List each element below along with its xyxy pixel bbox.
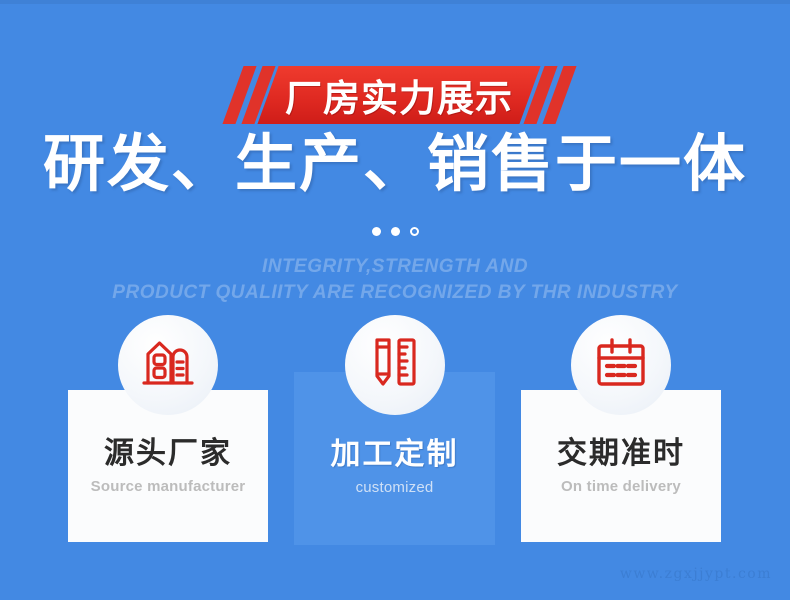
dot-3 bbox=[410, 227, 419, 236]
page-headline: 研发、生产、销售于一体 bbox=[0, 131, 790, 196]
feature-card-on-time-delivery[interactable]: 交期准时 On time delivery bbox=[521, 375, 721, 542]
card-title-en: Source manufacturer bbox=[68, 478, 268, 495]
dot-2 bbox=[391, 227, 400, 236]
ribbon-title: 厂房实力展示 bbox=[268, 66, 530, 124]
watermark-url: www.zgxjjypt.com bbox=[620, 566, 772, 582]
card-title-cn: 加工定制 bbox=[294, 438, 495, 473]
dot-1 bbox=[372, 227, 381, 236]
card-icon-circle bbox=[571, 315, 671, 415]
subtitle-english: INTEGRITY,STRENGTH AND PRODUCT QUALIITY … bbox=[0, 254, 790, 305]
pencil-ruler-icon bbox=[371, 336, 419, 395]
top-accent-strip bbox=[0, 0, 790, 4]
feature-card-source-manufacturer[interactable]: 源头厂家 Source manufacturer bbox=[68, 375, 268, 542]
feature-card-list: 源头厂家 Source manufacturer bbox=[0, 315, 790, 535]
factory-icon bbox=[140, 337, 196, 394]
card-labels: 源头厂家 Source manufacturer bbox=[68, 437, 268, 495]
ribbon-banner: 厂房实力展示 bbox=[0, 62, 790, 128]
calendar-icon bbox=[593, 337, 649, 394]
card-icon-circle bbox=[118, 315, 218, 415]
card-title-cn: 交期准时 bbox=[521, 437, 721, 472]
feature-card-customized[interactable]: 加工定制 customized bbox=[294, 372, 495, 545]
card-labels: 加工定制 customized bbox=[294, 438, 495, 496]
card-title-en: customized bbox=[294, 479, 495, 496]
subtitle-line-1: INTEGRITY,STRENGTH AND bbox=[0, 254, 790, 280]
card-labels: 交期准时 On time delivery bbox=[521, 437, 721, 495]
card-title-en: On time delivery bbox=[521, 478, 721, 495]
dot-separator bbox=[0, 227, 790, 236]
subtitle-line-2: PRODUCT QUALIITY ARE RECOGNIZED BY THR I… bbox=[0, 280, 790, 306]
card-icon-circle bbox=[345, 315, 445, 415]
card-title-cn: 源头厂家 bbox=[68, 437, 268, 472]
